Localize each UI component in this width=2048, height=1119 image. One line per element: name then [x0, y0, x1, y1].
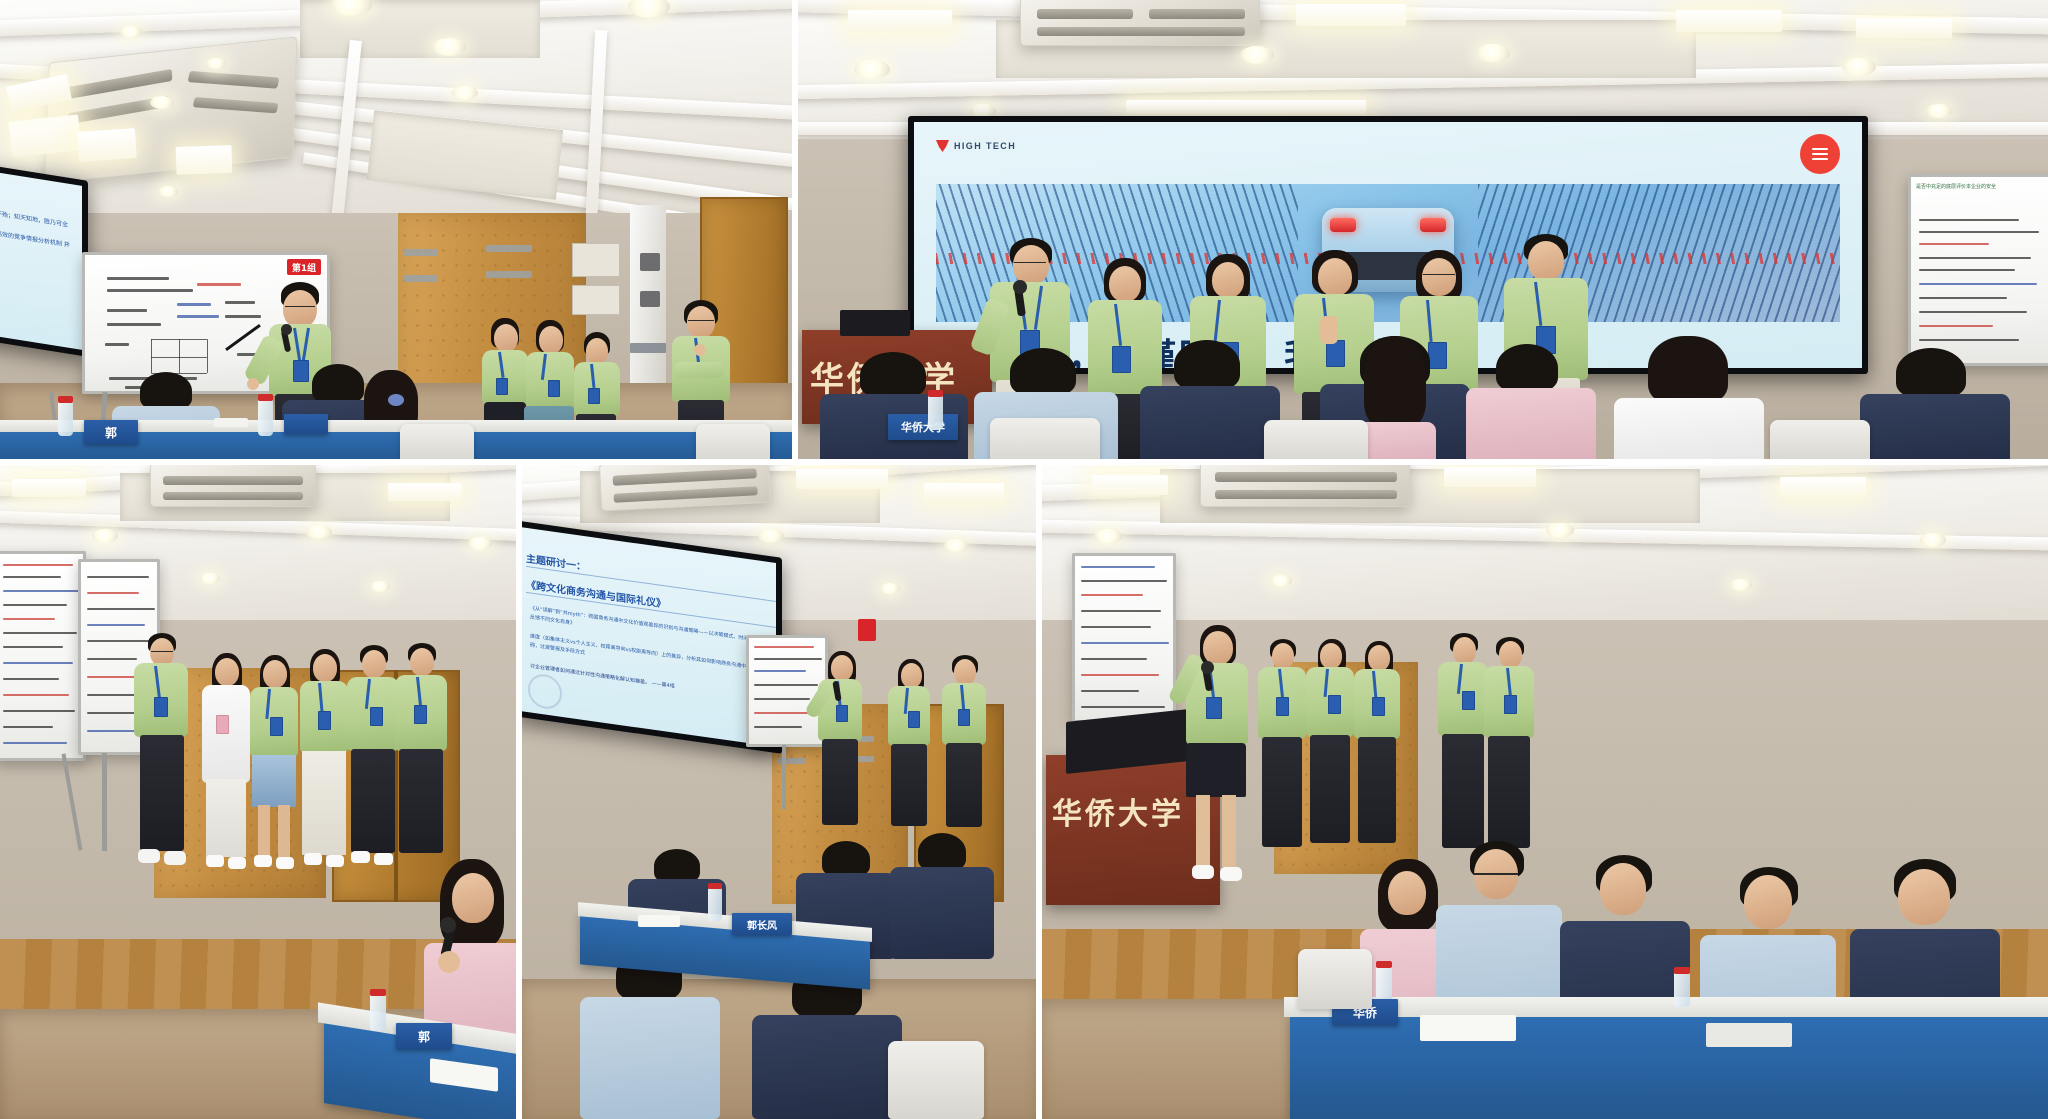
photo-panel-bottom-center[interactable]: 主题研讨一： 《跨文化商务沟通与国际礼仪》 《从“误解”到“共myth”：跨国商…	[520, 463, 1040, 1119]
hair	[1010, 348, 1076, 396]
team-member[interactable]	[1304, 639, 1358, 869]
judges-table	[1290, 1011, 2048, 1119]
trousers	[1262, 737, 1302, 847]
downlight	[92, 529, 118, 543]
head	[313, 654, 337, 682]
glasses	[151, 651, 173, 652]
head	[1898, 869, 1950, 925]
whiteboard-scribble	[177, 315, 219, 318]
flipchart-scribble	[1919, 257, 2031, 259]
hair	[1174, 340, 1240, 390]
downlight	[1546, 523, 1574, 538]
microphone-head	[1013, 280, 1027, 294]
flipchart-scribble	[3, 726, 53, 728]
slide-surface: 主题研讨一： 《跨文化商务沟通与国际礼仪》 《从“误解”到“共myth”：跨国商…	[520, 527, 776, 747]
flipchart-scribble	[3, 632, 77, 634]
flipchart-scribble	[1081, 626, 1151, 628]
audience-member	[1614, 336, 1764, 463]
ac-vent	[1215, 472, 1397, 482]
wall-sensor	[640, 291, 660, 307]
head	[1453, 637, 1476, 664]
downlight	[452, 86, 478, 100]
name-badge	[1372, 697, 1385, 716]
ceiling-panel-light	[1092, 475, 1168, 495]
photo-panel-bottom-left[interactable]: 郭	[0, 463, 520, 1119]
name-badge	[958, 709, 970, 726]
downlight	[880, 583, 900, 594]
flipchart-scribble	[3, 618, 55, 620]
downlight	[1270, 575, 1292, 587]
car-taillight-left	[1330, 218, 1356, 231]
water-bottle	[708, 887, 722, 921]
flipchart-scribble	[3, 662, 73, 664]
downlight	[1926, 104, 1952, 118]
leg	[1222, 795, 1236, 867]
shoe	[228, 857, 246, 869]
shirt	[1140, 386, 1280, 463]
downlight	[306, 525, 332, 539]
podium-university-name: 华侨大学	[1052, 789, 1184, 833]
wall-accent-band	[404, 275, 438, 282]
ac-vent	[1149, 9, 1245, 19]
downlight	[150, 96, 174, 109]
trousers	[206, 779, 246, 857]
ceiling-panel-light	[848, 10, 952, 32]
shoe	[138, 849, 160, 863]
downlight	[1240, 46, 1274, 64]
downlight	[432, 38, 466, 56]
head	[362, 650, 386, 678]
head	[1744, 875, 1792, 929]
head	[150, 638, 174, 666]
team-member[interactable]	[940, 655, 992, 827]
chair	[1264, 420, 1368, 463]
bottle-cap	[708, 883, 722, 889]
flipchart-scribble	[1919, 231, 2039, 233]
team-member[interactable]	[1352, 641, 1404, 869]
hand	[694, 344, 706, 356]
flipchart-scribble	[754, 646, 814, 648]
hair	[1896, 348, 1966, 398]
ac-vent	[613, 468, 757, 486]
whiteboard-scribble	[177, 303, 211, 306]
shirt	[1466, 388, 1596, 463]
hamburger-menu-icon[interactable]	[1800, 134, 1840, 174]
microphone-head	[1201, 661, 1214, 674]
whiteboard-scribble	[107, 277, 169, 280]
glasses	[688, 320, 714, 321]
head	[1212, 262, 1244, 298]
laptop[interactable]	[840, 310, 910, 336]
hair	[654, 849, 700, 883]
shoe	[1220, 867, 1242, 881]
trousers	[946, 743, 982, 827]
water-bottle	[928, 394, 943, 430]
bottle-cap	[928, 390, 943, 397]
shirt	[1614, 398, 1764, 463]
wall-accent-band	[404, 249, 438, 256]
shoe	[304, 853, 322, 865]
flipchart-scribble	[1919, 243, 1989, 245]
ceiling-panel-light	[1296, 4, 1406, 26]
photo-panel-top-right[interactable]: HIGH TECH 生命至贵，严谨目标，我们共建！	[796, 0, 2048, 463]
flipchart-scribble	[3, 646, 63, 648]
name-badge	[318, 711, 331, 730]
bottle-cap	[370, 989, 386, 996]
ac-vent	[188, 71, 280, 89]
whiteboard-scribble	[197, 283, 241, 286]
name-badge	[1206, 697, 1222, 719]
name-badge	[216, 715, 229, 734]
blouse	[202, 685, 250, 783]
ceiling-recess	[367, 110, 563, 199]
glasses	[1474, 873, 1518, 875]
downlight	[370, 581, 390, 592]
skirt	[1186, 743, 1246, 797]
shoe	[326, 855, 344, 867]
head	[494, 324, 518, 352]
leg	[1196, 795, 1210, 867]
university-crest	[528, 672, 562, 711]
flipchart-scribble	[1081, 658, 1147, 660]
table-nameplate: 郭	[396, 1023, 452, 1049]
flipchart-scribble	[754, 684, 818, 686]
name-badge	[1462, 691, 1475, 710]
tablet-device[interactable]	[1706, 1023, 1792, 1047]
head	[687, 306, 715, 338]
flipchart-scribble	[754, 670, 806, 672]
head	[1272, 643, 1294, 669]
collage-seam-horizontal	[0, 459, 2048, 465]
name-badge	[908, 711, 920, 728]
trousers	[1488, 736, 1530, 848]
head	[1600, 863, 1646, 915]
chair	[1770, 420, 1870, 463]
projection-screen: 胜乃不殆；知天知地，胜乃可全 建立高效的竞争情报分析机制 并	[0, 163, 88, 357]
hair	[860, 352, 926, 398]
glasses	[1014, 262, 1046, 263]
head	[1368, 645, 1390, 671]
car-taillight-right	[1420, 218, 1446, 231]
head	[1499, 641, 1522, 668]
audience-member	[1466, 344, 1596, 463]
shirt	[580, 997, 720, 1119]
ceiling-panel-light	[388, 483, 462, 501]
presenter[interactable]	[816, 651, 868, 825]
water-bottle	[370, 993, 386, 1031]
team-member[interactable]	[886, 659, 936, 827]
water-bottle	[58, 400, 73, 436]
flipchart-scribble	[1081, 690, 1139, 692]
shirt	[752, 1015, 902, 1119]
microphone-head	[281, 324, 292, 335]
hair	[1648, 336, 1728, 404]
downlight	[206, 58, 226, 69]
hand	[247, 378, 259, 390]
name-badge	[414, 705, 427, 724]
head	[1203, 631, 1233, 665]
arm	[674, 362, 724, 378]
flipchart-scribble	[1081, 706, 1165, 708]
bottle-cap	[1674, 967, 1690, 974]
paper-sheet	[214, 418, 248, 427]
flipchart-scribble	[1919, 339, 2019, 341]
bottle-cap	[1376, 961, 1392, 968]
paper-sheet	[1420, 1015, 1516, 1041]
water-bottle	[1674, 971, 1690, 1007]
team-member[interactable]	[1256, 639, 1310, 871]
shoe	[164, 851, 186, 865]
group-number-tag	[858, 619, 876, 641]
projection-line-2: 建立高效的竞争情报分析机制 并	[0, 226, 70, 249]
chair	[696, 424, 770, 463]
downlight	[200, 573, 220, 584]
shoe	[276, 857, 294, 869]
flipchart-scribble	[3, 576, 61, 578]
whiteboard-scribble	[105, 343, 129, 346]
head	[1388, 871, 1426, 915]
table-nameplate	[284, 414, 328, 434]
wall-accent-band	[486, 245, 532, 252]
flipchart-scribble	[3, 564, 73, 566]
water-bottle	[258, 398, 273, 436]
water-bottle	[1376, 965, 1392, 1003]
ceiling-panel-light	[77, 128, 137, 162]
trousers	[351, 749, 395, 853]
chair	[888, 1041, 984, 1119]
whiteboard-matrix	[151, 339, 152, 373]
trousers	[822, 739, 858, 825]
flipchart-scribble	[1919, 219, 2019, 221]
downlight	[1842, 58, 1876, 76]
downlight	[120, 26, 142, 38]
whiteboard-scribble	[107, 323, 161, 326]
ceiling-panel-light	[12, 479, 86, 497]
flipchart-scribble	[1919, 283, 2037, 285]
collage-seam-vertical	[792, 0, 798, 463]
bottle-cap	[58, 396, 73, 403]
flipchart-scribble	[1081, 566, 1155, 568]
ceiling-panel-light	[1780, 477, 1866, 497]
downlight	[468, 537, 492, 550]
head	[1013, 245, 1049, 285]
shorts	[252, 755, 296, 807]
name-badge	[154, 697, 168, 717]
head	[539, 326, 563, 354]
ac-vent	[62, 69, 172, 100]
ceiling	[0, 0, 796, 241]
shoe	[206, 855, 224, 867]
flipchart-scribble	[1919, 297, 2007, 299]
name-badge	[588, 388, 600, 404]
flipchart-scribble	[754, 726, 802, 728]
hair	[1496, 344, 1558, 392]
trousers	[399, 749, 443, 853]
ceiling-panel-light	[924, 483, 1004, 501]
whiteboard-scribble	[225, 301, 255, 304]
ceiling-panel-light	[1126, 100, 1366, 114]
trousers	[1442, 734, 1484, 848]
collage-seam-vertical	[1036, 463, 1042, 1119]
shirt	[890, 867, 994, 959]
head	[586, 338, 608, 364]
trousers	[1310, 735, 1350, 843]
downlight	[628, 0, 670, 18]
table-nameplate: 郭长风	[732, 913, 792, 935]
audience-member	[1140, 340, 1280, 463]
head	[954, 659, 976, 685]
flipchart[interactable]	[0, 551, 86, 761]
name-badge	[1328, 695, 1341, 714]
air-conditioner-unit	[150, 463, 316, 507]
flipchart-scribble	[3, 678, 59, 680]
flipchart-scribble	[3, 742, 67, 744]
shoe	[374, 853, 393, 865]
shoe	[254, 855, 272, 867]
group-number-tag: 第1组	[287, 259, 321, 275]
hair	[822, 841, 870, 877]
bottle-cap	[258, 394, 273, 401]
photo-panel-top-left[interactable]: 胜乃不殆；知天知地，胜乃可全 建立高效的竞争情报分析机制 并 第1组	[0, 0, 796, 463]
head	[1528, 241, 1564, 281]
ceiling-panel-light	[1444, 467, 1536, 487]
leg	[258, 805, 270, 859]
ac-vent	[163, 492, 303, 500]
slide-line-2: 《跨文化商务沟通与国际礼仪》	[526, 576, 666, 611]
wall-sensor	[640, 253, 660, 271]
flipchart[interactable]: 是否中充足的底层评价本企业的安全	[1908, 174, 2048, 366]
head	[1422, 258, 1456, 296]
projection-line-1: 胜乃不殆；知天知地，胜乃可全	[0, 206, 68, 228]
flipchart-scribble	[1919, 325, 1993, 327]
chair	[990, 418, 1100, 463]
ac-vent	[163, 476, 303, 485]
flipchart-scribble	[1081, 610, 1161, 612]
shirt	[1860, 394, 2010, 463]
downlight	[1094, 529, 1122, 544]
brand-logo: HIGH TECH	[936, 140, 1016, 152]
collage-seam-vertical	[516, 463, 522, 1119]
head	[1109, 266, 1141, 302]
name-badge	[270, 717, 283, 736]
name-badge	[370, 707, 383, 726]
flipchart-scribble	[87, 592, 139, 594]
table-nameplate: 华侨大学	[888, 414, 958, 440]
hand	[438, 951, 460, 973]
downlight	[1476, 44, 1510, 62]
ceiling-panel-light	[8, 114, 81, 157]
whiteboard-matrix	[179, 339, 180, 373]
flipchart-scribble	[1081, 674, 1159, 676]
ceiling-beam	[1040, 519, 2048, 551]
name-badge	[548, 380, 560, 397]
leg	[278, 805, 290, 859]
team-member[interactable]	[246, 655, 302, 871]
chair	[400, 424, 474, 463]
projection-surface: 胜乃不殆；知天知地，胜乃可全 建立高效的竞争情报分析机制 并	[0, 170, 82, 350]
downlight	[944, 539, 968, 552]
whiteboard-matrix	[207, 339, 208, 373]
trousers	[302, 751, 346, 855]
shoe	[351, 851, 370, 863]
paper-sheet	[638, 915, 680, 927]
flipchart-scribble	[1919, 269, 2015, 271]
ceiling	[1040, 463, 2048, 647]
flipchart-scribble	[3, 710, 75, 712]
flipchart-scribble	[1081, 642, 1169, 644]
head	[831, 655, 853, 681]
audience-member	[890, 833, 994, 959]
ac-vent	[1037, 9, 1133, 19]
flipchart-scribble	[754, 658, 822, 660]
whiteboard-scribble	[107, 309, 147, 312]
microphone-head	[440, 917, 456, 933]
photo-panel-bottom-right[interactable]: 华侨大学	[1040, 463, 2048, 1119]
hair	[140, 372, 192, 410]
table-nameplate: 郭	[84, 420, 138, 444]
trousers	[891, 744, 927, 826]
head	[215, 658, 239, 686]
head	[901, 663, 922, 688]
downlight	[158, 186, 178, 197]
downlight	[854, 60, 890, 79]
glasses	[1423, 274, 1455, 275]
trousers	[1358, 737, 1396, 843]
flipchart-scribble	[754, 698, 810, 700]
brand-name: HIGH TECH	[954, 141, 1016, 151]
ceiling-panel-light	[1856, 18, 1952, 38]
head	[1320, 643, 1342, 669]
flipchart-scribble	[1081, 580, 1167, 582]
head	[283, 290, 317, 328]
team-member[interactable]	[1482, 637, 1538, 869]
ac-vent	[1215, 490, 1397, 499]
audience-member	[820, 352, 968, 463]
ac-vent	[1037, 27, 1245, 36]
audience-member	[1860, 348, 2010, 463]
logo-mark-icon	[936, 140, 949, 152]
flipchart-scribble	[3, 590, 79, 592]
flipchart[interactable]	[1072, 553, 1176, 723]
team-member[interactable]	[392, 643, 452, 871]
flipchart-scribble	[1919, 311, 2027, 313]
flipchart-scribble	[3, 694, 69, 696]
head	[263, 660, 287, 688]
flipchart-scribble	[3, 604, 67, 606]
head	[452, 873, 494, 923]
flipchart-heading: 是否中充足的底层评价本企业的安全	[1916, 183, 2048, 191]
whiteboard-scribble	[107, 289, 193, 292]
flipchart-leg	[782, 745, 786, 809]
flipchart-scribble	[87, 576, 149, 578]
downlight	[1920, 533, 1946, 547]
presenter[interactable]	[130, 633, 194, 871]
flipchart-scribble	[87, 624, 145, 626]
table-surface	[1284, 997, 2048, 1017]
presenter-with-microphone[interactable]	[1180, 625, 1256, 887]
hair-clip	[388, 394, 404, 406]
wall-accent-band	[486, 271, 532, 278]
ac-vent	[193, 97, 279, 113]
ceiling-panel-light	[1676, 10, 1782, 32]
head	[410, 648, 434, 676]
head	[1318, 258, 1352, 296]
column-band	[630, 343, 666, 353]
flipchart-scribble	[87, 608, 155, 610]
name-badge	[1276, 697, 1289, 716]
presentation-screen[interactable]: 主题研讨一： 《跨文化商务沟通与国际礼仪》 《从“误解”到“共myth”：跨国商…	[520, 520, 782, 754]
chair	[1298, 949, 1372, 1009]
